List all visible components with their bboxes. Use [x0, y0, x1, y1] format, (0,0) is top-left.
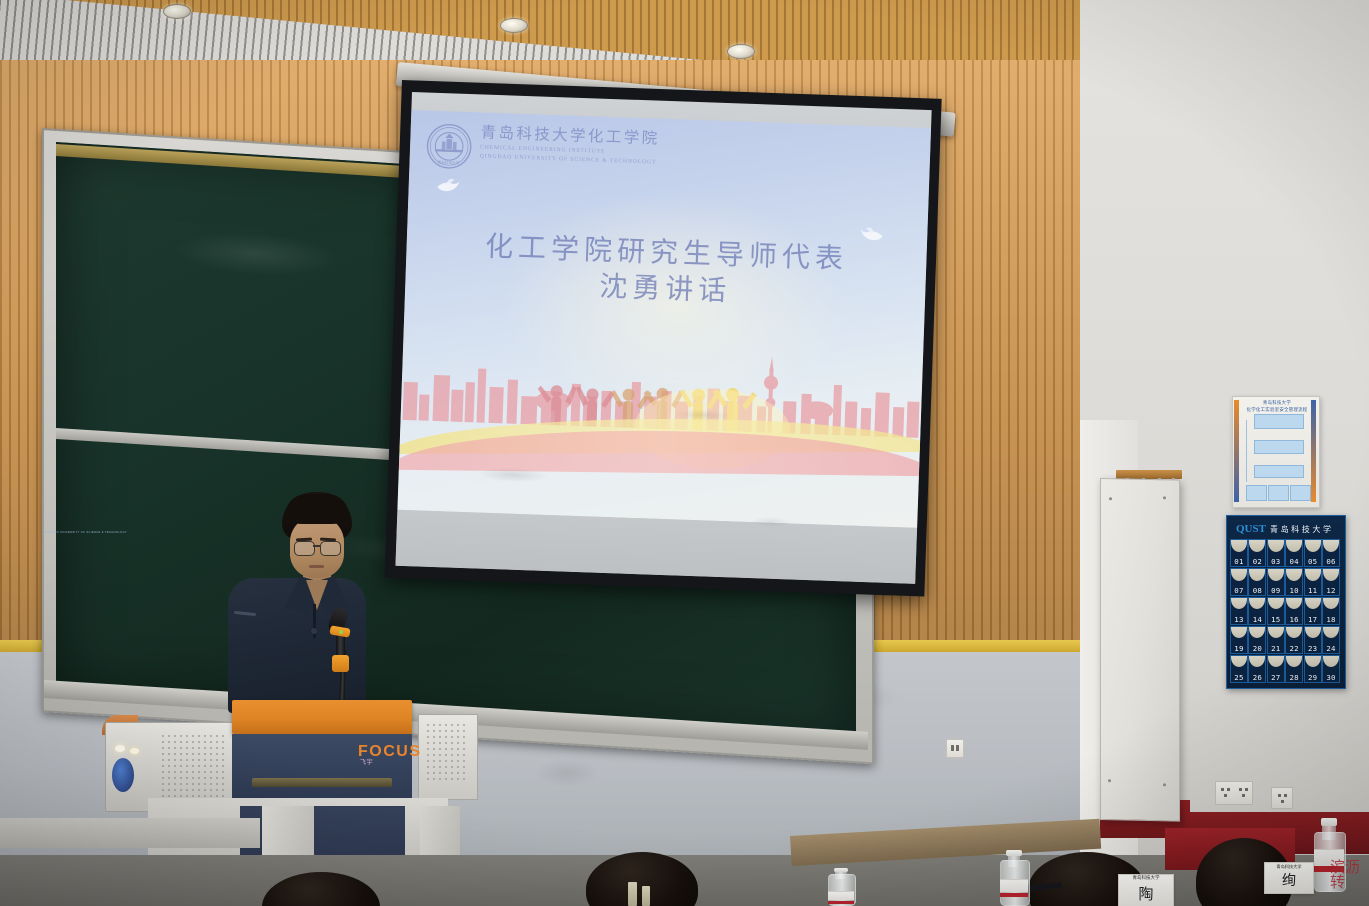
pocket-flap	[1231, 540, 1247, 552]
panel-screw-3	[1108, 779, 1111, 782]
pocket-flap	[1268, 569, 1284, 581]
pocket-number: 01	[1231, 558, 1247, 565]
placard-2-header: 青岛科技大学	[1265, 865, 1313, 869]
podium-speaker-grille-left	[160, 733, 228, 797]
pocket-19[interactable]: 19	[1230, 626, 1248, 654]
podium-indicator-light-1	[115, 745, 125, 752]
pocket-number: 23	[1305, 645, 1321, 652]
pocket-chart-header: QUST 青岛科技大学	[1230, 519, 1346, 539]
podium-indicator-light-2	[130, 748, 139, 754]
power-outlet-double[interactable]	[1215, 781, 1253, 805]
pocket-18[interactable]: 18	[1322, 597, 1340, 625]
pocket-21[interactable]: 21	[1267, 626, 1285, 654]
pocket-number: 21	[1268, 645, 1284, 652]
pocket-number: 28	[1286, 674, 1302, 681]
flowchart-connector	[1246, 420, 1247, 482]
pocket-flap	[1268, 656, 1284, 668]
pocket-number: 06	[1323, 558, 1339, 565]
panel-screw-4	[1163, 783, 1166, 786]
pocket-flap	[1249, 540, 1265, 552]
pocket-flap	[1249, 656, 1265, 668]
pocket-flap	[1323, 569, 1339, 581]
pocket-number: 29	[1305, 674, 1321, 681]
screen-smudge-overlay	[395, 92, 931, 584]
pocket-13[interactable]: 13	[1230, 597, 1248, 625]
pocket-flap	[1231, 569, 1247, 581]
pocket-flap	[1286, 569, 1302, 581]
pocket-flap	[1268, 627, 1284, 639]
pocket-flap	[1286, 627, 1302, 639]
placard-1-name: 陶	[1119, 887, 1173, 903]
pocket-flap	[1323, 627, 1339, 639]
pocket-number: 30	[1323, 674, 1339, 681]
name-placard-1: 青岛科技大学 陶	[1118, 874, 1174, 906]
pocket-flap	[1305, 598, 1321, 610]
pocket-number: 19	[1231, 645, 1247, 652]
ceiling-light-2	[500, 18, 528, 33]
pocket-number: 15	[1268, 616, 1284, 623]
water-bottle-1[interactable]	[828, 868, 854, 906]
pocket-number: 25	[1231, 674, 1247, 681]
projection-screen[interactable]: 青岛科技大学 青岛科技大学化工学院 CHEMICAL ENGINEERING I…	[395, 92, 931, 584]
pocket-flap	[1323, 598, 1339, 610]
pocket-28[interactable]: 28	[1285, 655, 1303, 683]
pocket-23[interactable]: 23	[1304, 626, 1322, 654]
pocket-flap	[1286, 598, 1302, 610]
pocket-flap	[1268, 598, 1284, 610]
ceiling-light-1	[163, 4, 191, 19]
pocket-chart-title-en: QINGDAO UNIVERSITY OF SCIENCE & TECHNOLO…	[44, 531, 127, 534]
pocket-29[interactable]: 29	[1304, 655, 1322, 683]
pocket-number: 22	[1286, 645, 1302, 652]
pocket-flap	[1286, 540, 1302, 552]
pocket-10[interactable]: 10	[1285, 568, 1303, 596]
pocket-04[interactable]: 04	[1285, 539, 1303, 567]
microphone-clip[interactable]	[332, 655, 349, 672]
pocket-25[interactable]: 25	[1230, 655, 1248, 683]
pocket-flap	[1249, 569, 1265, 581]
lecture-hall-photo: 青岛科技大学 青岛科技大学化工学院 CHEMICAL ENGINEERING I…	[0, 0, 1369, 906]
pocket-number: 14	[1249, 616, 1265, 623]
pocket-03[interactable]: 03	[1267, 539, 1285, 567]
water-bottle-2[interactable]	[1000, 850, 1028, 906]
flowchart-node-5	[1268, 485, 1289, 501]
pocket-16[interactable]: 16	[1285, 597, 1303, 625]
pocket-flap	[1305, 627, 1321, 639]
flowchart-node-1	[1254, 414, 1304, 429]
pocket-22[interactable]: 22	[1285, 626, 1303, 654]
pocket-number: 17	[1305, 616, 1321, 623]
pocket-07[interactable]: 07	[1230, 568, 1248, 596]
pocket-flap	[1305, 656, 1321, 668]
pocket-08[interactable]: 08	[1248, 568, 1266, 596]
panel-screw-1	[1109, 497, 1112, 500]
pocket-number: 16	[1286, 616, 1302, 623]
pocket-chart-title-cn: 青岛科技大学	[1270, 524, 1334, 535]
podium-desktop	[232, 700, 412, 734]
speaker-hair-fringe	[285, 494, 349, 524]
podium-badge	[112, 758, 134, 792]
speaker-shirt-button	[311, 628, 317, 634]
poster-frame-right	[1311, 400, 1316, 502]
pocket-05[interactable]: 05	[1304, 539, 1322, 567]
pocket-number: 09	[1268, 587, 1284, 594]
pocket-number: 26	[1249, 674, 1265, 681]
podium-brand-sublabel: 飞宇	[360, 757, 373, 766]
poster-title: 青岛科技大学 化学化工实验室安全管理流程	[1246, 401, 1308, 414]
power-outlet-single[interactable]	[1271, 787, 1293, 809]
foreground-vertical-sign: 滨沥转	[1330, 860, 1366, 890]
pocket-20[interactable]: 20	[1248, 626, 1266, 654]
pocket-flap	[1231, 656, 1247, 668]
leaning-white-panel[interactable]	[1100, 478, 1180, 822]
pocket-09[interactable]: 09	[1267, 568, 1285, 596]
pocket-flap	[1268, 540, 1284, 552]
pocket-12[interactable]: 12	[1322, 568, 1340, 596]
pocket-15[interactable]: 15	[1267, 597, 1285, 625]
pocket-number: 03	[1268, 558, 1284, 565]
hair-clip-1	[628, 882, 637, 906]
pocket-flap	[1231, 627, 1247, 639]
pocket-number: 11	[1305, 587, 1321, 594]
pocket-number: 12	[1323, 587, 1339, 594]
qust-logo-mark: QUST	[1236, 524, 1266, 535]
microphone-power-led	[339, 630, 343, 634]
pocket-flap	[1323, 540, 1339, 552]
ceiling-light-3	[727, 44, 755, 59]
pocket-26[interactable]: 26	[1248, 655, 1266, 683]
pocket-flap	[1305, 569, 1321, 581]
pocket-flap	[1323, 656, 1339, 668]
pocket-02[interactable]: 02	[1248, 539, 1266, 567]
pocket-number: 02	[1249, 558, 1265, 565]
pocket-flap	[1305, 540, 1321, 552]
panel-screw-2	[1163, 496, 1166, 499]
flowchart-node-6	[1290, 485, 1311, 501]
pocket-chart-grid: 0102030405060708091011121314151617181920…	[1230, 539, 1340, 683]
pocket-number: 24	[1323, 645, 1339, 652]
flowchart-node-3	[1254, 465, 1304, 478]
light-switch[interactable]	[946, 739, 964, 758]
placard-1-header: 青岛科技大学	[1119, 877, 1173, 882]
pocket-number: 27	[1268, 674, 1284, 681]
pocket-number: 13	[1231, 616, 1247, 623]
glasses-lens-right	[320, 541, 341, 556]
pocket-11[interactable]: 11	[1304, 568, 1322, 596]
pocket-flap	[1249, 627, 1265, 639]
speaker-mouth	[309, 565, 324, 568]
pocket-number: 08	[1249, 587, 1265, 594]
glasses-lens-left	[294, 541, 315, 556]
flowchart-node-4	[1246, 485, 1267, 501]
pocket-27[interactable]: 27	[1267, 655, 1285, 683]
pocket-01[interactable]: 01	[1230, 539, 1248, 567]
pocket-flap	[1249, 598, 1265, 610]
pocket-06[interactable]: 06	[1322, 539, 1340, 567]
pocket-number: 07	[1231, 587, 1247, 594]
pocket-flap	[1231, 598, 1247, 610]
pocket-number: 05	[1305, 558, 1321, 565]
pocket-number: 10	[1286, 587, 1302, 594]
hair-clip-2	[642, 886, 650, 906]
pocket-30[interactable]: 30	[1322, 655, 1340, 683]
pocket-number: 04	[1286, 558, 1302, 565]
pocket-number: 18	[1323, 616, 1339, 623]
lower-wall-strip	[0, 818, 260, 848]
pocket-flap	[1286, 656, 1302, 668]
pocket-17[interactable]: 17	[1304, 597, 1322, 625]
pocket-24[interactable]: 24	[1322, 626, 1340, 654]
poster-title-line-1: 青岛科技大学	[1246, 401, 1308, 408]
name-placard-2: 青岛科技大学 绚	[1264, 862, 1314, 894]
podium-cable-slot	[252, 778, 392, 787]
flowchart-node-2	[1254, 440, 1304, 454]
podium-speaker-grille-right	[425, 722, 469, 784]
pocket-14[interactable]: 14	[1248, 597, 1266, 625]
poster-frame-left	[1234, 400, 1239, 502]
pocket-number: 20	[1249, 645, 1265, 652]
glasses-bridge	[313, 545, 320, 547]
placard-2-name: 绚	[1265, 874, 1313, 889]
